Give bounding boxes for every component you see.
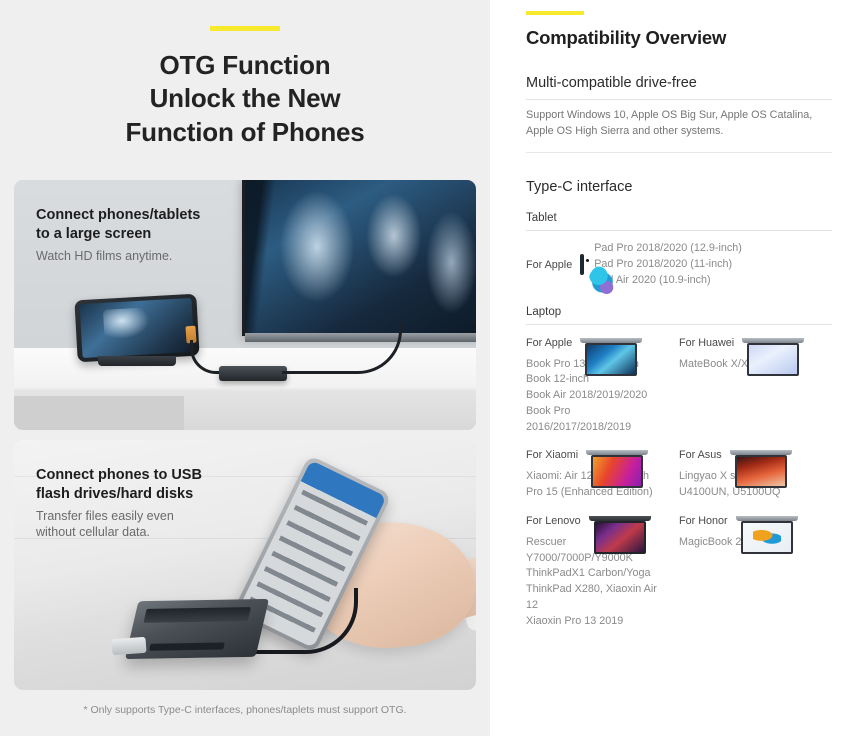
panel-accent-bar bbox=[526, 11, 584, 15]
brand-label: For Huawei bbox=[679, 337, 734, 349]
brand-label: For Apple bbox=[526, 337, 572, 349]
compatibility-panel: Compatibility Overview Multi-compatible … bbox=[490, 0, 850, 736]
cable-phone-to-hub bbox=[250, 588, 358, 654]
feature-card-usb-caption: Connect phones to USB flash drives/hard … bbox=[36, 466, 202, 541]
footnote-disclaimer: * Only supports Type-C interfaces, phone… bbox=[0, 704, 490, 716]
compat-row-lenovo-honor: For Lenovo Rescuer Y7000/7000P/Y9000K Th… bbox=[526, 515, 832, 630]
spec-line: Pad Pro 2018/2020 (12.9-inch) bbox=[594, 241, 742, 257]
divider bbox=[526, 152, 832, 153]
caption-title-line-2: flash drives/hard disks bbox=[36, 485, 202, 504]
spec-line: Xiaoxin Pro 13 2019 bbox=[526, 614, 671, 630]
compat-row-xiaomi-asus: For Xiaomi Xiaomi: Air 12.5/13.3-inch Pr… bbox=[526, 449, 832, 501]
caption-title-line-1: Connect phones to USB bbox=[36, 466, 202, 485]
spec-line: Book Air 2018/2019/2020 bbox=[526, 388, 671, 404]
compat-entry-apple-tablet: For Apple Pad Pro 2018/2020 (12.9-inch) … bbox=[526, 241, 832, 288]
caption-title: Connect phones to USB flash drives/hard … bbox=[36, 466, 202, 505]
group-label-tablet: Tablet bbox=[526, 212, 832, 224]
feature-card-usb: Connect phones to USB flash drives/hard … bbox=[14, 440, 476, 690]
caption-title: Connect phones/tablets to a large screen bbox=[36, 206, 200, 245]
divider bbox=[526, 324, 832, 325]
compat-entry-huawei: For Huawei MateBook X/X Pro bbox=[679, 337, 832, 436]
panel-title: Compatibility Overview bbox=[526, 27, 832, 49]
section-heading-type-c: Type-C interface bbox=[526, 179, 832, 195]
ipad-thumbnail-icon bbox=[580, 256, 584, 274]
phone-stand bbox=[98, 356, 176, 366]
spec-line: Pad Pro 2018/2020 (11-inch) bbox=[594, 257, 742, 273]
caption-title-line-2: to a large screen bbox=[36, 225, 200, 244]
brand-label: For Asus bbox=[679, 449, 722, 461]
caption-title-line-1: Connect phones/tablets bbox=[36, 206, 200, 225]
divider bbox=[526, 99, 832, 100]
usb-hub-device bbox=[219, 366, 287, 381]
usb-hub-device bbox=[125, 599, 269, 659]
spec-line: ThinkPad X280, Xiaoxin Air 12 bbox=[526, 582, 671, 614]
section-heading-drive-free: Multi-compatible drive-free bbox=[526, 75, 832, 91]
caption-subtitle-line-2: without cellular data. bbox=[36, 524, 202, 541]
brand-label: For Apple bbox=[526, 259, 572, 271]
compat-entry-lenovo: For Lenovo Rescuer Y7000/7000P/Y9000K Th… bbox=[526, 515, 679, 630]
compat-entry-asus: For Asus Lingyao X series U4100UN, U5100… bbox=[679, 449, 832, 501]
feature-card-tv-caption: Connect phones/tablets to a large screen… bbox=[36, 206, 200, 264]
feature-card-tv: Connect phones/tablets to a large screen… bbox=[14, 180, 476, 430]
brand-label: For Honor bbox=[679, 515, 728, 527]
caption-subtitle: Transfer files easily even without cellu… bbox=[36, 508, 202, 542]
compat-entry-xiaomi: For Xiaomi Xiaomi: Air 12.5/13.3-inch Pr… bbox=[526, 449, 679, 501]
phone-icon bbox=[74, 294, 199, 363]
spec-line: Book Pro 2016/2017/2018/2019 bbox=[526, 404, 671, 436]
left-feature-panel: OTG Function Unlock the New Function of … bbox=[0, 0, 490, 736]
hero-title: OTG Function Unlock the New Function of … bbox=[0, 49, 490, 149]
brand-label: For Xiaomi bbox=[526, 449, 578, 461]
hero-title-line-3: Function of Phones bbox=[0, 116, 490, 149]
hero-title-line-2: Unlock the New bbox=[0, 82, 490, 115]
television-icon bbox=[242, 180, 476, 336]
caption-subtitle-line-1: Transfer files easily even bbox=[36, 508, 202, 525]
spec-line: ThinkPadX1 Carbon/Yoga bbox=[526, 566, 671, 582]
section-body-drive-free: Support Windows 10, Apple OS Big Sur, Ap… bbox=[526, 108, 832, 139]
compat-entry-apple-laptop: For Apple Book Pro 13/15/16-inch Book 12… bbox=[526, 337, 679, 436]
hero-title-line-1: OTG Function bbox=[0, 49, 490, 82]
usb-flash-drive-icon bbox=[111, 637, 146, 655]
caption-subtitle: Watch HD films anytime. bbox=[36, 248, 200, 265]
product-detail-page: OTG Function Unlock the New Function of … bbox=[0, 0, 850, 736]
group-label-laptop: Laptop bbox=[526, 306, 832, 318]
hero-accent-bar bbox=[210, 26, 280, 31]
compat-row-apple-huawei: For Apple Book Pro 13/15/16-inch Book 12… bbox=[526, 337, 832, 436]
divider bbox=[526, 230, 832, 231]
compat-entry-honor: For Honor MagicBook 2019 bbox=[679, 515, 832, 630]
brand-label: For Lenovo bbox=[526, 515, 581, 527]
